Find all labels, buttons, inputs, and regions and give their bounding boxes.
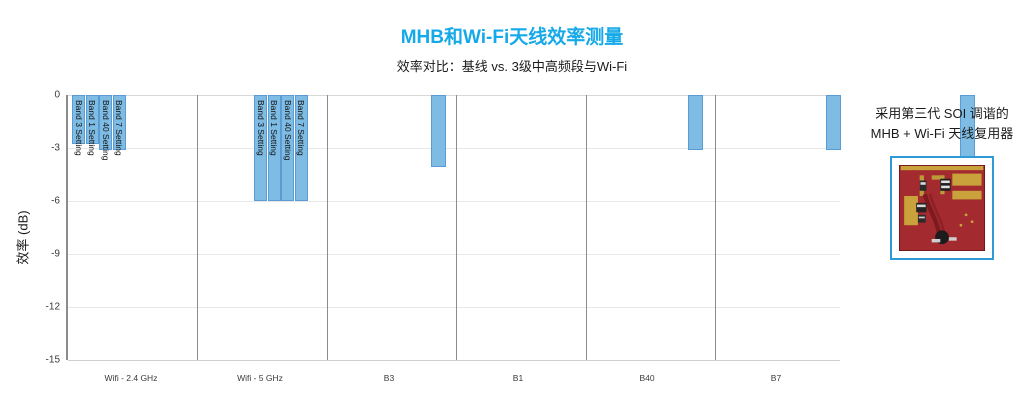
x-category-label: B1: [513, 373, 523, 383]
bar-label: Band 7 Setting: [296, 100, 306, 156]
bar-label: Band 40 Setting: [283, 100, 293, 161]
gridline: -12: [68, 307, 840, 308]
page-title: MHB和Wi-Fi天线效率测量: [0, 26, 1024, 50]
y-tick-label: -6: [51, 196, 60, 207]
x-category-label: B40: [639, 373, 654, 383]
x-category-label: Wifi - 2.4 GHz: [105, 373, 158, 383]
gridline: 0: [68, 95, 840, 96]
bar-label: Band 7 Setting: [114, 100, 124, 156]
bar[interactable]: Band 40 Setting: [99, 95, 112, 150]
x-category-label: Wifi - 5 GHz: [237, 373, 283, 383]
gridline: -15: [68, 360, 840, 361]
gridline: -3: [68, 148, 840, 149]
bar[interactable]: Band 1 Setting: [268, 95, 281, 201]
gridline: -9: [68, 254, 840, 255]
photo-frame: [890, 156, 994, 260]
group-separator: [197, 95, 198, 360]
x-category-label: B7: [771, 373, 781, 383]
group-separator: [715, 95, 716, 360]
y-tick-label: -15: [46, 355, 60, 366]
bar-chart: 效率 (dB) 0-3-6-9-12-15Band 3 SettingBand …: [0, 88, 860, 398]
pcb-photograph-image: [899, 165, 985, 251]
y-tick-label: -3: [51, 143, 60, 154]
group-separator: [586, 95, 587, 360]
bar[interactable]: Band 40 Setting: [281, 95, 294, 201]
bar-label: Band 3 Setting: [256, 100, 266, 156]
bar[interactable]: [826, 95, 841, 150]
bar[interactable]: Band 7 Setting: [113, 95, 126, 150]
side-panel-caption: 采用第三代 SOI 调谐的 MHB + Wi-Fi 天线复用器: [862, 104, 1022, 144]
y-tick-label: -12: [46, 302, 60, 313]
bar-label: Band 40 Setting: [101, 100, 111, 161]
bar[interactable]: Band 3 Setting: [254, 95, 267, 201]
y-tick-label: 0: [54, 90, 60, 101]
plot-area: 0-3-6-9-12-15Band 3 SettingBand 1 Settin…: [66, 95, 840, 360]
bar[interactable]: Band 7 Setting: [295, 95, 308, 201]
side-panel: 采用第三代 SOI 调谐的 MHB + Wi-Fi 天线复用器: [862, 104, 1022, 260]
y-axis-title: 效率 (dB): [13, 178, 32, 298]
title-block: MHB和Wi-Fi天线效率测量 效率对比：基线 vs. 3级中高频段与Wi-Fi: [0, 26, 1024, 76]
group-separator: [456, 95, 457, 360]
y-tick-label: -9: [51, 249, 60, 260]
bar[interactable]: [688, 95, 703, 150]
bar-label: Band 1 Setting: [269, 100, 279, 156]
chart-subtitle: 效率对比：基线 vs. 3级中高频段与Wi-Fi: [0, 58, 1024, 76]
bar[interactable]: [431, 95, 446, 167]
gridline: -6: [68, 201, 840, 202]
bar[interactable]: Band 1 Setting: [86, 95, 99, 144]
x-category-label: B3: [384, 373, 394, 383]
plot-inner: 0-3-6-9-12-15Band 3 SettingBand 1 Settin…: [68, 95, 840, 360]
group-separator: [327, 95, 328, 360]
bar[interactable]: Band 3 Setting: [72, 95, 85, 144]
